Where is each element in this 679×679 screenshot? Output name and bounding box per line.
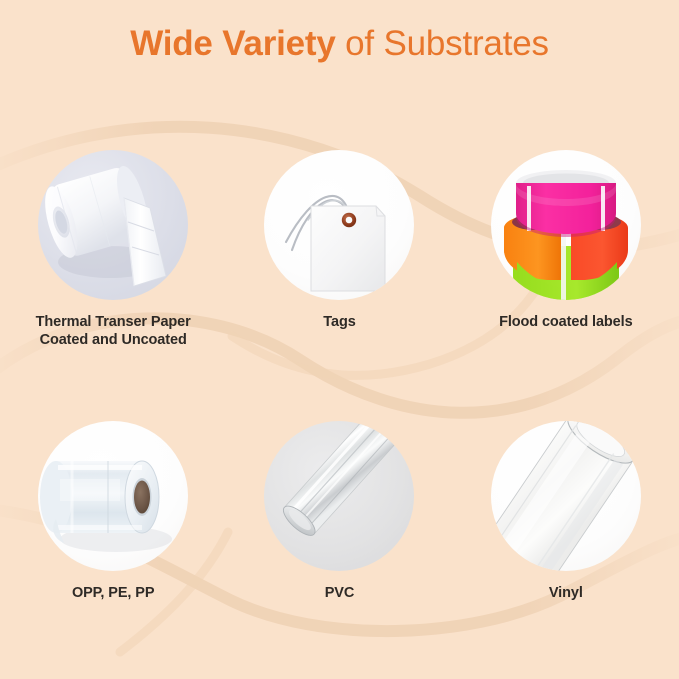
page-title: Wide Variety of Substrates xyxy=(0,26,679,61)
clear-pvc-rolled-sheet-icon xyxy=(264,421,414,571)
thermal-paper-image-circle xyxy=(38,150,188,300)
substrate-item-vinyl[interactable]: Vinyl xyxy=(453,421,679,603)
substrate-item-flood-coated-labels[interactable]: Flood coated labels xyxy=(453,150,679,349)
tags-image-circle xyxy=(264,150,414,300)
vinyl-image-circle xyxy=(491,421,641,571)
label-roll-white-icon xyxy=(38,150,188,300)
substrate-item-opp-pe-pp[interactable]: OPP, PE, PP xyxy=(0,421,226,603)
substrate-grid: Thermal Transer Paper Coated and Uncoate… xyxy=(0,150,679,603)
substrate-item-pvc[interactable]: PVC xyxy=(226,421,452,603)
substrate-caption: PVC xyxy=(325,585,355,603)
substrate-caption: Thermal Transer Paper Coated and Uncoate… xyxy=(36,314,191,349)
substrate-caption: Vinyl xyxy=(549,585,583,603)
flood-coated-image-circle xyxy=(491,150,641,300)
clear-stretch-film-roll-icon xyxy=(38,421,188,571)
substrate-row: Thermal Transer Paper Coated and Uncoate… xyxy=(0,150,679,349)
substrate-caption: Flood coated labels xyxy=(499,314,632,332)
page-title-regular: of Substrates xyxy=(336,24,549,63)
substrate-caption: Tags xyxy=(323,314,355,332)
fluorescent-label-rolls-icon xyxy=(491,150,641,300)
clear-vinyl-rolled-sheet-icon xyxy=(491,421,641,571)
substrate-caption: OPP, PE, PP xyxy=(72,585,154,603)
substrate-item-thermal-transfer-paper[interactable]: Thermal Transer Paper Coated and Uncoate… xyxy=(0,150,226,349)
opp-pe-pp-image-circle xyxy=(38,421,188,571)
substrate-row: OPP, PE, PP xyxy=(0,421,679,603)
substrates-poster: Wide Variety of Substrates xyxy=(0,0,679,679)
hang-tag-with-string-icon xyxy=(264,150,414,300)
pvc-image-circle xyxy=(264,421,414,571)
page-title-bold: Wide Variety xyxy=(130,24,335,63)
substrate-item-tags[interactable]: Tags xyxy=(226,150,452,349)
